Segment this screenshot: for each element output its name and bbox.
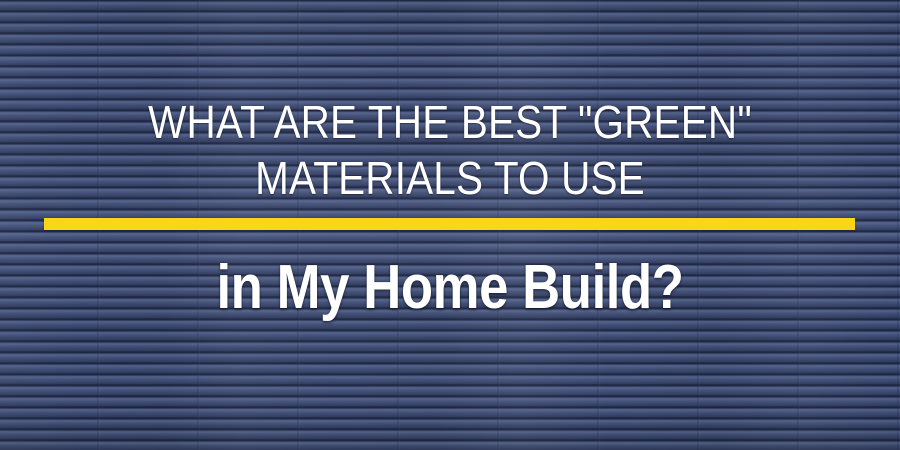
yellow-divider-rule [44, 218, 855, 230]
headline-line-2: MATERIALS TO USE [54, 150, 846, 206]
text-content: WHAT ARE THE BEST "GREEN" MATERIALS TO U… [0, 0, 900, 450]
banner: WHAT ARE THE BEST "GREEN" MATERIALS TO U… [0, 0, 900, 450]
subheadline: in My Home Build? [68, 252, 833, 324]
headline-line-1: WHAT ARE THE BEST "GREEN" [54, 94, 846, 150]
